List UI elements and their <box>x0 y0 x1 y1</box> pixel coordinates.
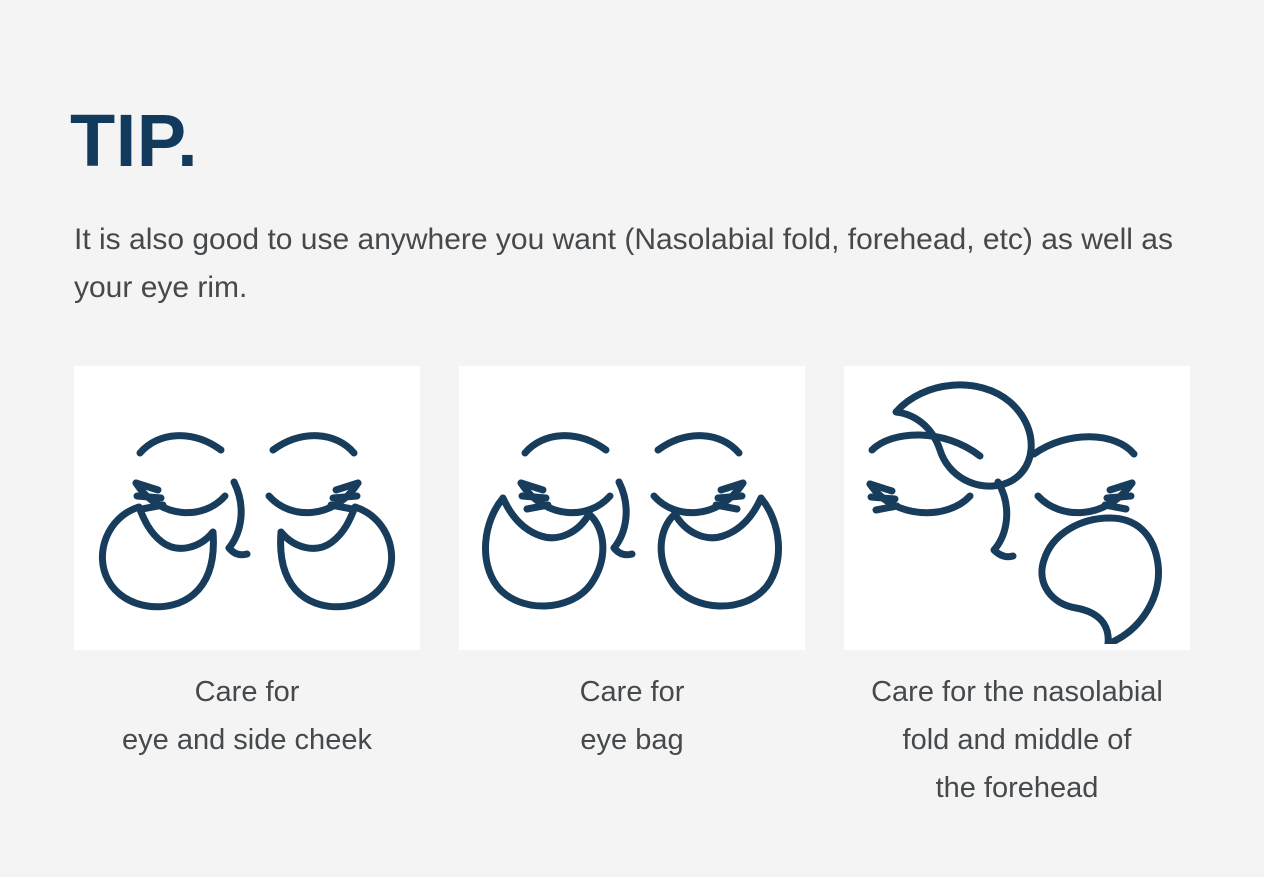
caption-line: eye bag <box>452 717 812 765</box>
face-nasolabial-forehead-patch-icon <box>852 372 1182 644</box>
card-row: Care for eye and side cheek <box>74 366 1190 813</box>
card-figure <box>74 366 420 650</box>
card-caption: Care for the nasolabial fold and middle … <box>837 669 1197 813</box>
face-eye-bag-patch-icon <box>467 372 797 644</box>
face-eye-side-cheek-patch-icon <box>82 372 412 644</box>
caption-line: Care for <box>67 669 427 717</box>
card-caption: Care for eye and side cheek <box>67 669 427 765</box>
page-description: It is also good to use anywhere you want… <box>74 216 1214 312</box>
caption-line: Care for the nasolabial <box>837 669 1197 717</box>
caption-line: eye and side cheek <box>67 717 427 765</box>
card-eye-and-side-cheek: Care for eye and side cheek <box>74 366 420 765</box>
caption-line: Care for <box>452 669 812 717</box>
card-figure <box>844 366 1190 650</box>
caption-line: fold and middle of <box>837 717 1197 765</box>
card-nasolabial-and-forehead: Care for the nasolabial fold and middle … <box>844 366 1190 813</box>
page-root: TIP. It is also good to use anywhere you… <box>0 0 1264 877</box>
card-eye-bag: Care for eye bag <box>459 366 805 765</box>
card-caption: Care for eye bag <box>452 669 812 765</box>
page-title: TIP. <box>70 104 198 178</box>
card-figure <box>459 366 805 650</box>
caption-line: the forehead <box>837 765 1197 813</box>
